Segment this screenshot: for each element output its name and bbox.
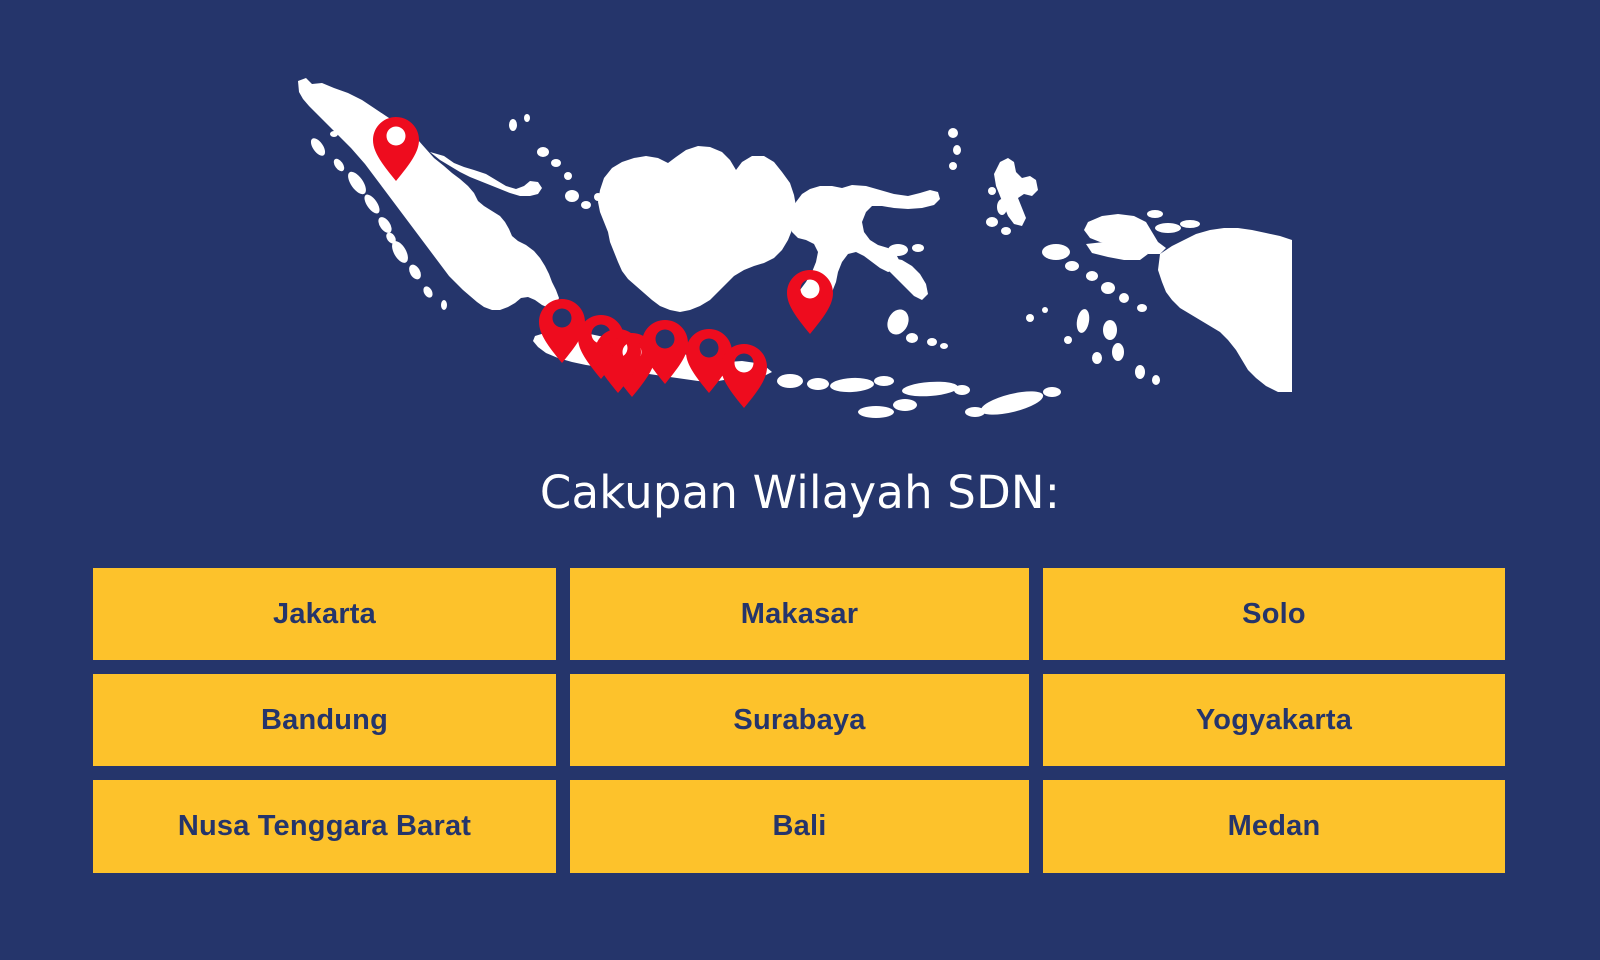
island-buru: [1042, 244, 1070, 260]
island-small: [348, 118, 356, 126]
indonesia-map: [0, 0, 1600, 455]
island-timor: [979, 387, 1045, 420]
island-small: [1103, 320, 1117, 340]
island-small: [949, 162, 957, 170]
island-small: [1147, 210, 1163, 218]
island-small: [997, 199, 1007, 215]
island-small: [362, 192, 383, 216]
island-small: [441, 300, 447, 310]
island-small: [912, 244, 924, 252]
island-small: [474, 244, 482, 252]
island-small: [1026, 314, 1034, 322]
island-small: [564, 172, 572, 180]
island-bali: [777, 374, 803, 388]
island-small: [1101, 282, 1115, 294]
island-small: [1065, 261, 1079, 271]
island-flores: [902, 380, 959, 398]
island-small: [1043, 387, 1061, 397]
island-small: [565, 190, 579, 202]
island-small: [422, 285, 435, 299]
island-small: [494, 253, 506, 263]
coverage-cell-jakarta[interactable]: Jakarta: [93, 568, 556, 660]
island-small: [986, 217, 998, 227]
island-small: [551, 159, 561, 167]
island-small: [874, 376, 894, 386]
page-title: Cakupan Wilayah SDN:: [0, 466, 1600, 520]
island-small: [888, 244, 908, 256]
island-small: [965, 407, 985, 417]
coverage-cell-bali[interactable]: Bali: [570, 780, 1029, 873]
island-lombok: [807, 378, 829, 390]
island-papua: [1158, 228, 1292, 392]
island-small: [1042, 307, 1048, 313]
island-small: [330, 131, 338, 137]
coverage-cell-bandung[interactable]: Bandung: [93, 674, 556, 766]
island-small: [1119, 293, 1129, 303]
coverage-cell-makasar[interactable]: Makasar: [570, 568, 1029, 660]
island-small: [893, 399, 917, 411]
island-madura: [728, 361, 772, 376]
island-small: [581, 201, 591, 209]
island-small: [345, 169, 370, 197]
island-small: [948, 128, 958, 138]
coverage-area-table: Jakarta Makasar Solo Bandung Surabaya Yo…: [93, 568, 1505, 873]
island-small: [927, 338, 937, 346]
island-small: [332, 157, 347, 173]
island-sumbawa: [830, 377, 875, 393]
island-buton: [883, 306, 912, 338]
slide-canvas: Cakupan Wilayah SDN: Jakarta Makasar Sol…: [0, 0, 1600, 960]
indonesia-map-svg: [0, 0, 1600, 455]
island-small: [376, 215, 395, 235]
island-small: [1001, 227, 1011, 235]
island-sumba: [858, 406, 894, 418]
coverage-cell-solo[interactable]: Solo: [1043, 568, 1505, 660]
island-small: [954, 385, 970, 395]
island-small: [1180, 220, 1200, 228]
coverage-cell-medan[interactable]: Medan: [1043, 780, 1505, 873]
landmasses: [298, 78, 1292, 419]
coverage-cell-yogyakarta[interactable]: Yogyakarta: [1043, 674, 1505, 766]
island-small: [1155, 223, 1181, 233]
island-small: [537, 147, 549, 157]
island-small: [524, 114, 530, 122]
island-small: [1112, 343, 1124, 361]
island-small: [1137, 304, 1147, 312]
island-small: [988, 187, 996, 195]
island-small: [1064, 336, 1072, 344]
island-small: [407, 263, 424, 282]
island-small: [1152, 375, 1160, 385]
island-small: [1092, 352, 1102, 364]
island-small: [308, 136, 328, 158]
island-halmahera: [994, 158, 1038, 226]
coverage-cell-nusa-tenggara-barat[interactable]: Nusa Tenggara Barat: [93, 780, 556, 873]
island-small: [1086, 271, 1098, 281]
island-small: [906, 333, 918, 343]
island-small: [940, 343, 948, 349]
island-java: [533, 330, 730, 382]
sulawesi-southeast-arm: [886, 258, 928, 300]
island-small: [953, 145, 961, 155]
island-small: [1135, 365, 1145, 379]
island-small: [509, 119, 517, 131]
coverage-cell-surabaya[interactable]: Surabaya: [570, 674, 1029, 766]
island-small: [1075, 308, 1091, 334]
